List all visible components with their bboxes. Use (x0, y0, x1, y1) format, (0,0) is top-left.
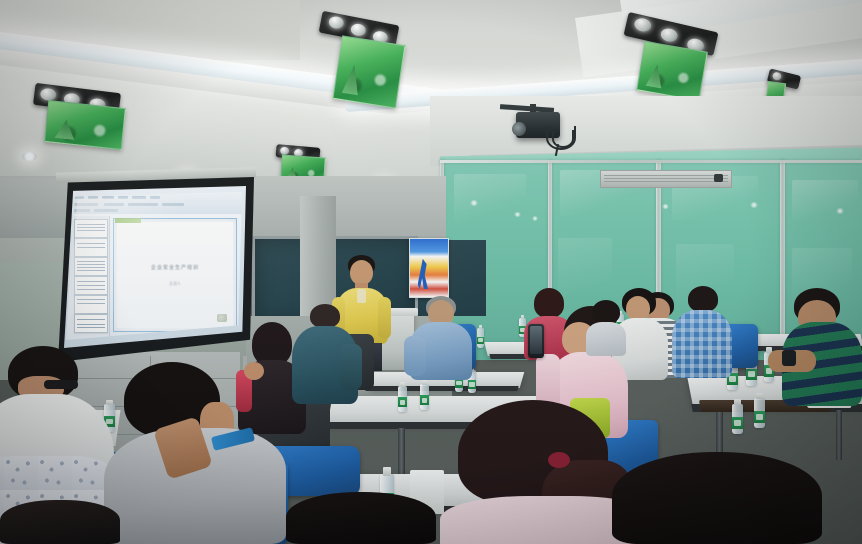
attendee-foreground-left-head (286, 492, 436, 544)
slide-title: 企业安全生产培训 (129, 264, 222, 271)
green-hanging-promo-card (44, 100, 126, 150)
green-hanging-promo-card (636, 41, 708, 101)
wristwatch (782, 350, 796, 366)
green-hanging-promo-card (332, 35, 405, 108)
attendee-second-row (586, 300, 626, 356)
smartphone-screen (530, 326, 542, 354)
photo-scene: 企业安全生产培训 主讲人 (0, 0, 862, 544)
attendee-grey-tshirt-lanyard (96, 362, 286, 544)
ceiling-air-conditioning-vent (600, 170, 732, 188)
table-edge (365, 386, 518, 391)
powerpoint-slideshow[interactable]: 企业安全生产培训 主讲人 (66, 192, 242, 340)
hair-tie (548, 452, 570, 468)
table-leg (836, 410, 842, 460)
bottled-water[interactable] (398, 386, 407, 412)
recessed-downlight (22, 152, 37, 161)
presenter-collar (357, 289, 366, 303)
poster-figure (418, 259, 431, 289)
attendee-green-navy-stripe-polo (776, 288, 862, 412)
attendee-blue-plaid-shirt (672, 286, 734, 378)
slide-corner-logo (217, 314, 227, 322)
attendee-teal-jacket (292, 304, 360, 404)
bottled-water[interactable] (754, 398, 765, 428)
slide-stage: 企业安全生产培训 主讲人 (113, 218, 237, 332)
bottled-water[interactable] (477, 328, 484, 348)
presenter-arm-right (378, 297, 391, 339)
colorful-wall-poster (409, 238, 449, 298)
hanging-projector-cable (552, 130, 574, 148)
slide-subtitle: 主讲人 (140, 281, 210, 287)
projector-lens (512, 122, 526, 136)
center-wall (246, 176, 446, 240)
bottled-water[interactable] (732, 404, 743, 434)
eyeglasses (44, 380, 78, 389)
attendee-foreground-right-head (612, 452, 822, 544)
presenter-head (350, 260, 373, 285)
slide-tab-indicator (115, 218, 141, 223)
slide-thumbnail-panel[interactable] (71, 216, 110, 336)
attendee-navy-shirt-grey-hair (410, 296, 474, 384)
bottled-water[interactable] (420, 384, 429, 410)
attendee-bottom-left-head (0, 500, 120, 544)
